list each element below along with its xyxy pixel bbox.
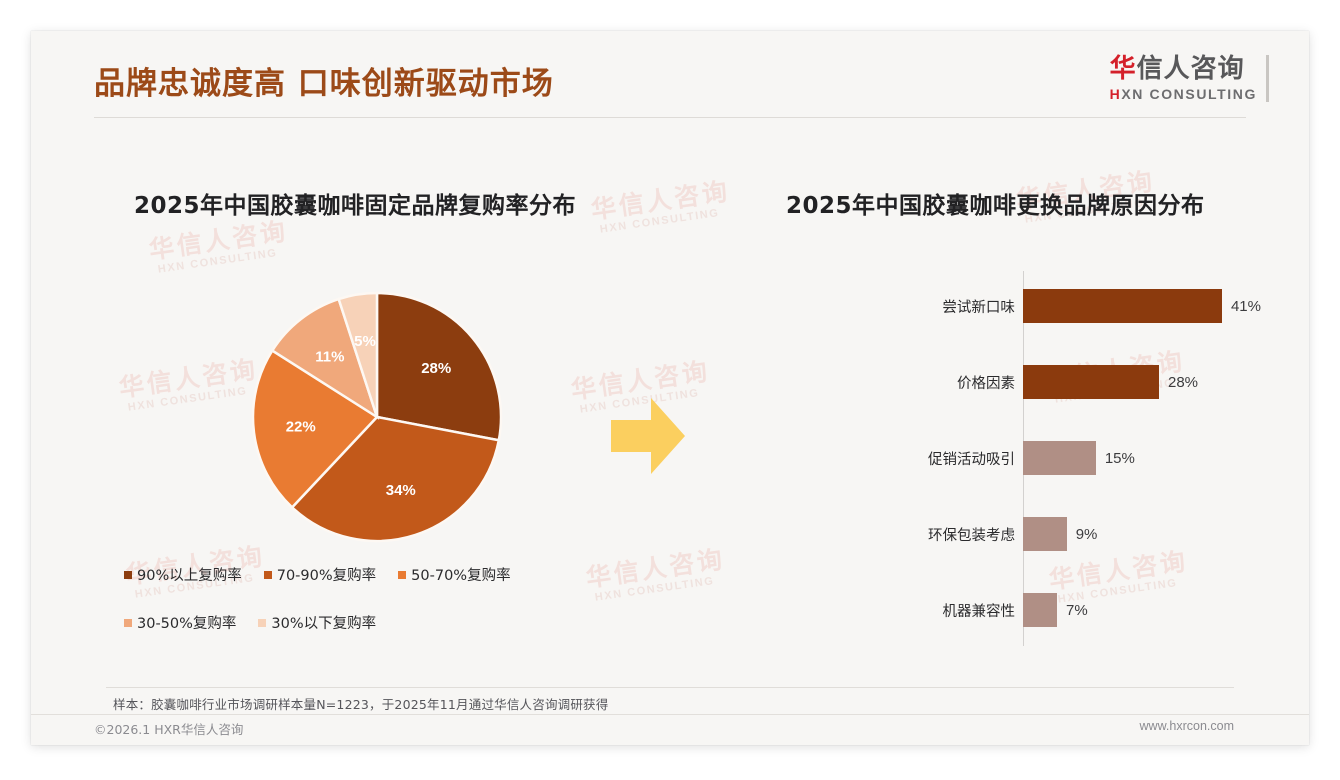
logo-cn-rest: 信人咨询 — [1137, 54, 1245, 84]
legend-swatch-icon — [264, 571, 272, 579]
bar-chart-title: 2025年中国胶囊咖啡更换品牌原因分布 — [786, 186, 1261, 220]
sample-footnote: 样本：胶囊咖啡行业市场调研样本量N=1223，于2025年11月通过华信人咨询调… — [113, 694, 608, 713]
bar-category-label: 促销活动吸引 — [791, 448, 1023, 469]
pie-slice-value: 34% — [386, 482, 416, 499]
pie-legend: 90%以上复购率 70-90%复购率 50-70%复购率 30-50%复购率 — [124, 564, 644, 660]
legend-swatch-icon — [398, 571, 406, 579]
bar-value-label: 15% — [1105, 450, 1135, 467]
legend-label: 90%以上复购率 — [137, 564, 242, 585]
page-title: 品牌忠诚度高 口味创新驱动市场 — [94, 58, 554, 103]
legend-label: 30%以下复购率 — [271, 612, 376, 633]
bar-fill[interactable] — [1023, 593, 1057, 627]
legend-row: 90%以上复购率 70-90%复购率 50-70%复购率 — [124, 564, 644, 585]
legend-swatch-icon — [258, 619, 266, 627]
slide-canvas: 华信人咨询 HXN CONSULTING 华信人咨询 HXN CONSULTIN… — [31, 31, 1309, 745]
arrow-right-svg — [609, 394, 687, 479]
bar-row: 环保包装考虑9% — [791, 517, 1261, 551]
pie-chart-title: 2025年中国胶囊咖啡固定品牌复购率分布 — [134, 186, 654, 220]
bar-fill[interactable] — [1023, 517, 1067, 551]
legend-swatch-icon — [124, 571, 132, 579]
pie-chart-svg: 28%34%22%11%5% — [251, 291, 503, 543]
pie-slice-value: 22% — [286, 419, 316, 436]
logo-english: HXN CONSULTING — [1110, 86, 1257, 102]
brand-logo: 华信人咨询 HXN CONSULTING — [1110, 55, 1269, 102]
bar-row: 尝试新口味41% — [791, 289, 1261, 323]
bar-fill[interactable] — [1023, 441, 1096, 475]
legend-label: 30-50%复购率 — [137, 612, 236, 633]
slide-header: 品牌忠诚度高 口味创新驱动市场 华信人咨询 HXN CONSULTING — [31, 31, 1309, 121]
copyright-text: ©2026.1 HXR华信人咨询 — [94, 719, 243, 738]
pie-slice-value: 28% — [421, 360, 451, 377]
bar-chart: 尝试新口味41%价格因素28%促销活动吸引15%环保包装考虑9%机器兼容性7% — [791, 271, 1261, 661]
bar-track: 15% — [1023, 441, 1261, 475]
logo-cn-red: 华 — [1110, 54, 1137, 84]
legend-item-4[interactable]: 30%以下复购率 — [258, 612, 376, 633]
logo-chinese: 华信人咨询 — [1110, 55, 1257, 84]
pie-slice-value: 11% — [315, 348, 344, 365]
arrow-right-icon — [609, 394, 687, 484]
pie-chart-panel: 2025年中国胶囊咖啡固定品牌复购率分布 28%34%22%11%5% 90%以… — [94, 186, 654, 666]
bar-value-label: 7% — [1066, 602, 1088, 619]
bar-category-label: 价格因素 — [791, 372, 1023, 393]
pie-slices — [253, 293, 501, 541]
bar-chart-panel: 2025年中国胶囊咖啡更换品牌原因分布 尝试新口味41%价格因素28%促销活动吸… — [731, 186, 1261, 666]
bar-track: 9% — [1023, 517, 1261, 551]
bar-row: 机器兼容性7% — [791, 593, 1261, 627]
bar-category-label: 环保包装考虑 — [791, 524, 1023, 545]
bar-track: 28% — [1023, 365, 1261, 399]
pie-slice-value: 5% — [354, 333, 376, 350]
footer-divider — [31, 714, 1309, 715]
bar-fill[interactable] — [1023, 289, 1222, 323]
bar-category-label: 尝试新口味 — [791, 296, 1023, 317]
legend-item-0[interactable]: 90%以上复购率 — [124, 564, 242, 585]
bar-category-label: 机器兼容性 — [791, 600, 1023, 621]
bar-value-label: 41% — [1231, 298, 1261, 315]
legend-label: 70-90%复购率 — [277, 564, 376, 585]
bar-row: 促销活动吸引15% — [791, 441, 1261, 475]
legend-item-3[interactable]: 30-50%复购率 — [124, 612, 236, 633]
bar-value-label: 9% — [1076, 526, 1098, 543]
bar-track: 41% — [1023, 289, 1261, 323]
bar-row: 价格因素28% — [791, 365, 1261, 399]
bar-value-label: 28% — [1168, 374, 1198, 391]
logo-en-rest: XN CONSULTING — [1121, 86, 1257, 102]
header-divider — [94, 117, 1246, 118]
footnote-divider — [106, 687, 1234, 688]
bar-track: 7% — [1023, 593, 1261, 627]
legend-row: 30-50%复购率 30%以下复购率 — [124, 612, 644, 633]
legend-item-2[interactable]: 50-70%复购率 — [398, 564, 510, 585]
logo-en-red: H — [1110, 86, 1122, 102]
legend-item-1[interactable]: 70-90%复购率 — [264, 564, 376, 585]
website-url[interactable]: www.hxrcon.com — [1140, 719, 1234, 733]
legend-swatch-icon — [124, 619, 132, 627]
legend-label: 50-70%复购率 — [411, 564, 510, 585]
pie-chart: 28%34%22%11%5% — [251, 291, 503, 543]
bar-fill[interactable] — [1023, 365, 1159, 399]
